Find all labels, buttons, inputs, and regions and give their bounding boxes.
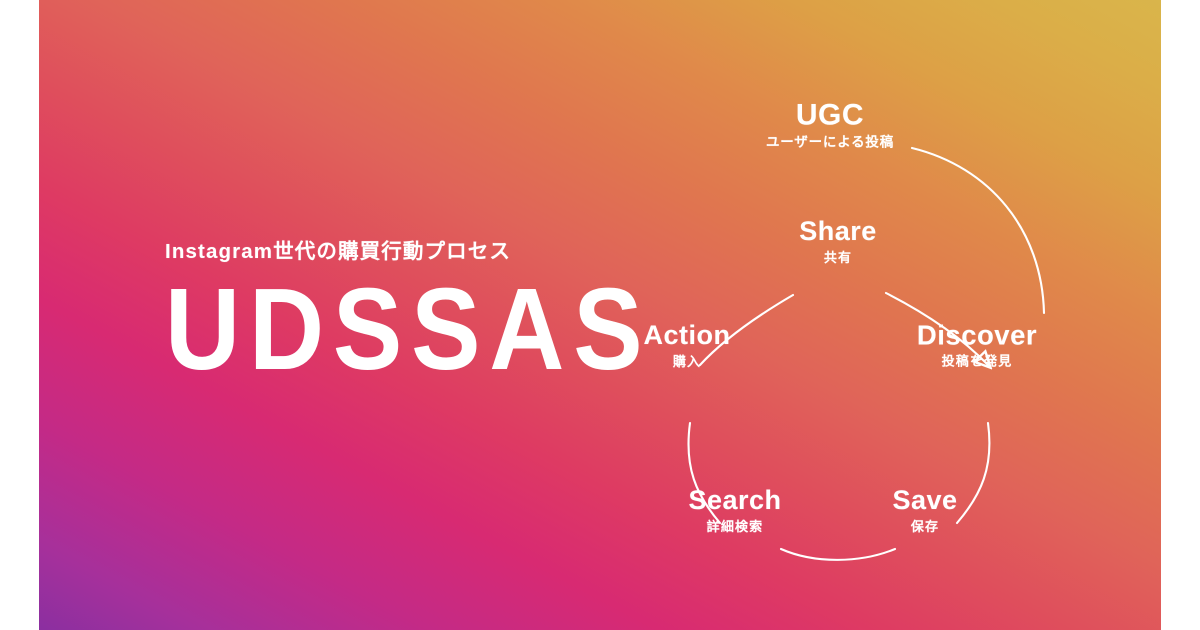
cycle-node-action[interactable]: Action 購入 — [644, 320, 731, 370]
cycle-node-save-label: Save — [892, 485, 957, 517]
cycle-node-discover[interactable]: Discover 投稿を発見 — [917, 320, 1037, 371]
cycle-node-share[interactable]: Share 共有 — [799, 216, 876, 266]
cycle-node-action-label: Action — [644, 320, 731, 352]
cycle-node-search-sublabel: 詳細検索 — [689, 518, 782, 536]
page-title: UDSSAS — [165, 274, 565, 388]
cycle-node-search-label: Search — [689, 485, 782, 517]
cycle-node-discover-sublabel: 投稿を発見 — [917, 353, 1037, 371]
page-subtitle: Instagram世代の購買行動プロセス — [165, 240, 565, 265]
cycle-node-ugc[interactable]: UGC ユーザーによる投稿 — [766, 98, 894, 153]
title-block: Instagram世代の購買行動プロセス UDSSAS — [165, 240, 565, 376]
cycle-node-discover-label: Discover — [917, 320, 1037, 352]
cycle-node-share-sublabel: 共有 — [799, 249, 876, 267]
cycle-node-ugc-label: UGC — [766, 98, 894, 133]
connector-save-to-search — [781, 549, 895, 560]
connector-discover-to-save — [957, 423, 989, 523]
udssas-cycle-diagram: UGC ユーザーによる投稿 Share 共有 Discover 投稿を発見 Sa… — [590, 55, 1110, 575]
cycle-node-share-label: Share — [799, 216, 876, 248]
cycle-node-search[interactable]: Search 詳細検索 — [689, 485, 782, 535]
poster-canvas: Instagram世代の購買行動プロセス UDSSAS — [0, 0, 1200, 630]
cycle-node-action-sublabel: 購入 — [644, 353, 731, 371]
cycle-node-save-sublabel: 保存 — [892, 518, 957, 536]
cycle-node-save[interactable]: Save 保存 — [892, 485, 957, 535]
cycle-node-ugc-sublabel: ユーザーによる投稿 — [766, 134, 894, 152]
connector-ugc-to-discover — [912, 148, 1044, 313]
